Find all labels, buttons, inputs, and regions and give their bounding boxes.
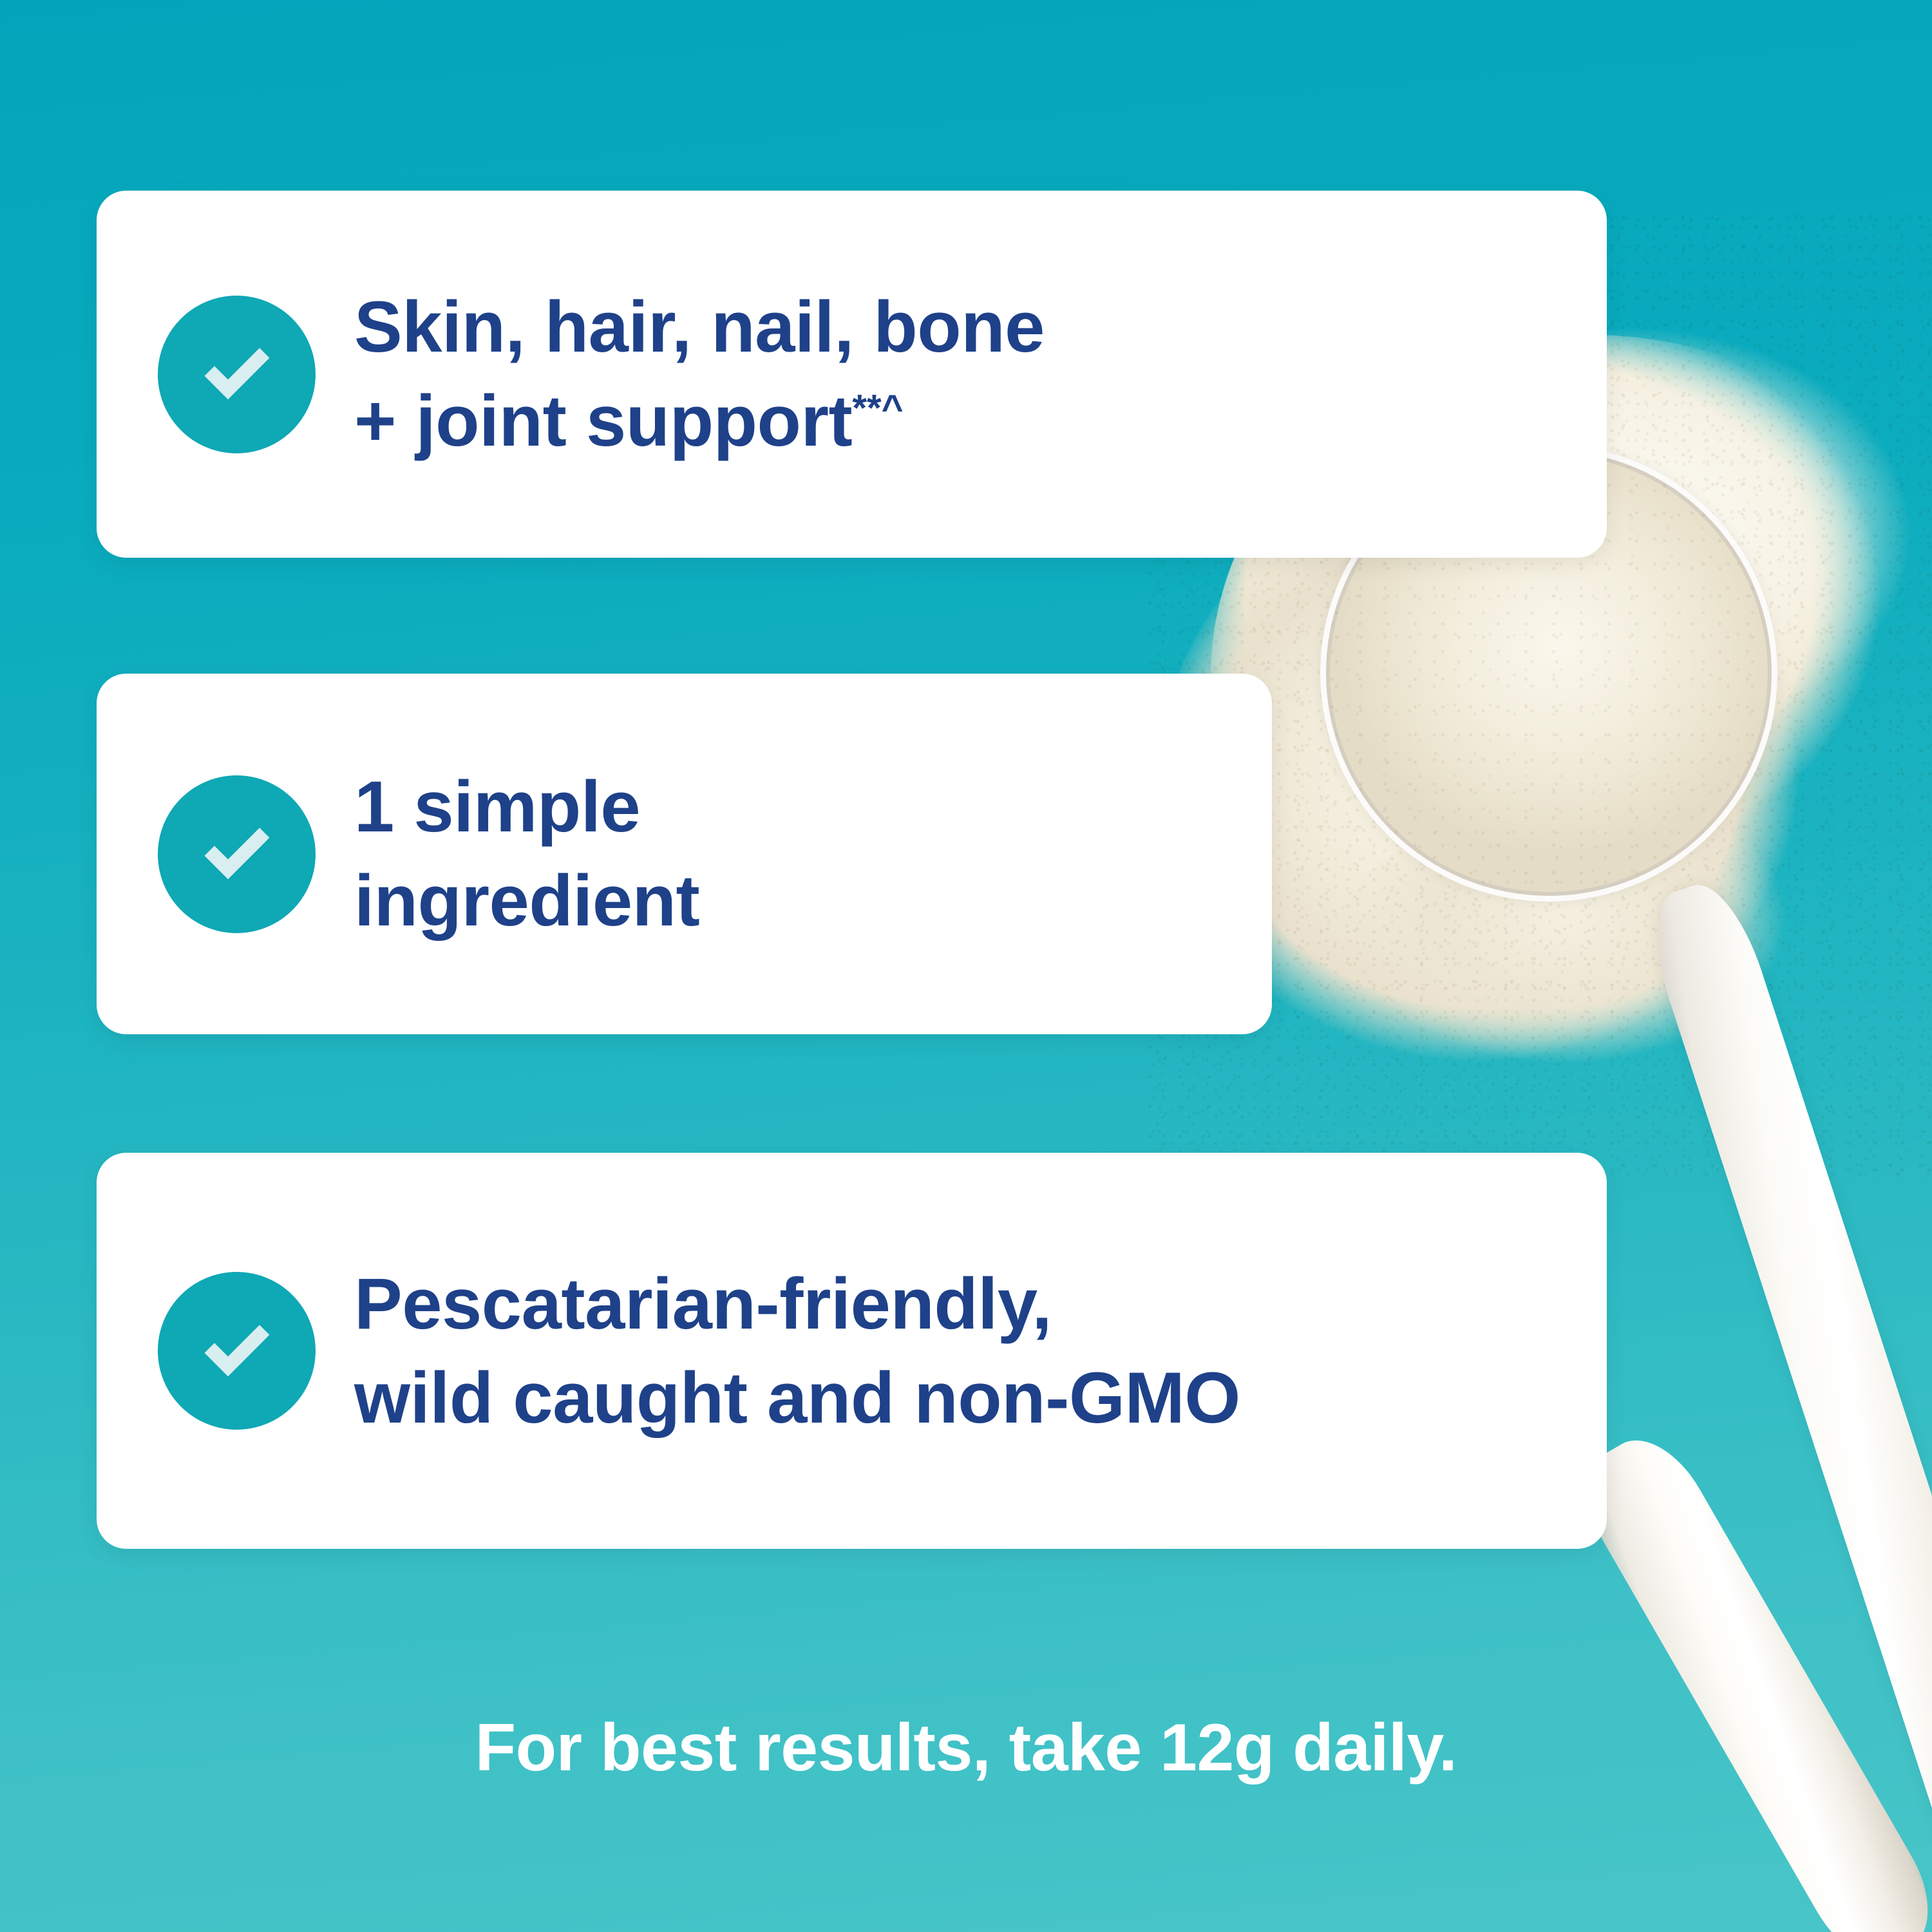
check-icon bbox=[158, 1272, 316, 1430]
benefit-card-label: Skin, hair, nail, bone + joint support bbox=[354, 287, 1045, 461]
benefit-card-label: 1 simple ingredient bbox=[354, 766, 699, 941]
benefit-card-label: Pescatarian-friendly, wild caught and no… bbox=[354, 1264, 1240, 1438]
check-icon bbox=[158, 296, 316, 453]
benefit-card-text: Skin, hair, nail, bone + joint support**… bbox=[354, 280, 1045, 468]
benefit-card-skin-hair-nail-bone-joint: Skin, hair, nail, bone + joint support**… bbox=[97, 191, 1607, 558]
dosage-note: For best results, take 12g daily. bbox=[0, 1710, 1932, 1786]
benefit-card-superscript: **^ bbox=[852, 388, 903, 430]
benefit-card-pescatarian-wild-caught-non-gmo: Pescatarian-friendly, wild caught and no… bbox=[97, 1153, 1607, 1549]
product-benefits-graphic: Skin, hair, nail, bone + joint support**… bbox=[0, 0, 1932, 1932]
benefit-card-text: Pescatarian-friendly, wild caught and no… bbox=[354, 1257, 1240, 1444]
check-icon bbox=[158, 775, 316, 933]
scoop-handle-lower bbox=[1566, 1422, 1932, 1932]
benefit-card-text: 1 simple ingredient bbox=[354, 760, 699, 947]
powder-mound bbox=[1327, 792, 1855, 1153]
benefit-card-one-simple-ingredient: 1 simple ingredient bbox=[97, 674, 1272, 1034]
